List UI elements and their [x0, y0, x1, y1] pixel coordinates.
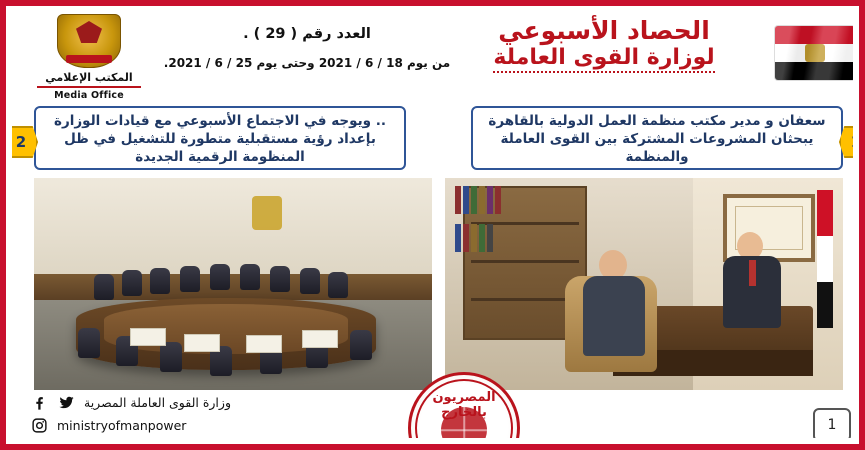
- caption-text-1: سعفان و مدير مكتب منظمة العمل الدولية با…: [483, 113, 831, 166]
- photo-weekly-meeting: [34, 178, 432, 390]
- social-links: وزارة القوى العاملة المصرية ministryofma…: [30, 392, 231, 438]
- media-office-label-ar: المكتب الإعلامي: [24, 71, 154, 84]
- ministry-logo-block: المكتب الإعلامي Media Office: [24, 14, 154, 98]
- masthead-title: الحصاد الأسبوعي لوزارة القوى العاملة: [439, 18, 769, 70]
- newsletter-page: المكتب الإعلامي Media Office العدد رقم (…: [0, 0, 865, 450]
- social-row-facebook-twitter[interactable]: وزارة القوى العاملة المصرية: [30, 392, 231, 413]
- egypt-eagle-emblem: [57, 14, 121, 68]
- egypt-flag: [775, 26, 853, 86]
- twitter-icon[interactable]: [57, 393, 76, 412]
- caption-row: 1 سعفان و مدير مكتب منظمة العمل الدولية …: [12, 100, 853, 178]
- facebook-icon[interactable]: [30, 393, 49, 412]
- facebook-page-name[interactable]: وزارة القوى العاملة المصرية: [84, 395, 231, 410]
- title-main: الحصاد الأسبوعي: [439, 18, 769, 44]
- caption-number-1: 1: [839, 126, 853, 158]
- title-sub: لوزارة القوى العاملة: [493, 45, 714, 73]
- caption-box-2: 2 .. ويوجه في الاجتماع الأسبوعي مع قيادا…: [34, 106, 406, 170]
- footer: وزارة القوى العاملة المصرية ministryofma…: [12, 390, 853, 438]
- photo-row: [34, 178, 843, 390]
- stamp-text: المصريون بالخارج: [408, 390, 520, 420]
- instagram-handle[interactable]: ministryofmanpower: [57, 418, 186, 433]
- header: المكتب الإعلامي Media Office العدد رقم (…: [12, 12, 853, 100]
- logo-divider: [37, 86, 141, 88]
- instagram-icon[interactable]: [30, 416, 49, 435]
- issue-number: العدد رقم ( 29 ) .: [162, 26, 452, 42]
- caption-text-2: .. ويوجه في الاجتماع الأسبوعي مع قيادات …: [46, 113, 394, 166]
- photo-minister-ilo-director: [445, 178, 843, 390]
- caption-box-1: 1 سعفان و مدير مكتب منظمة العمل الدولية …: [471, 106, 843, 170]
- caption-number-2: 2: [12, 126, 38, 158]
- watermark-stamp: المصريون بالخارج: [408, 372, 520, 438]
- page-number-badge: 1: [813, 408, 851, 438]
- social-row-instagram[interactable]: ministryofmanpower: [30, 415, 231, 436]
- issue-info: العدد رقم ( 29 ) . من يوم 18 / 6 / 2021 …: [162, 26, 452, 72]
- issue-date-range: من يوم 18 / 6 / 2021 وحتى يوم 25 / 6 / 2…: [162, 54, 452, 72]
- page-inner: المكتب الإعلامي Media Office العدد رقم (…: [12, 12, 853, 438]
